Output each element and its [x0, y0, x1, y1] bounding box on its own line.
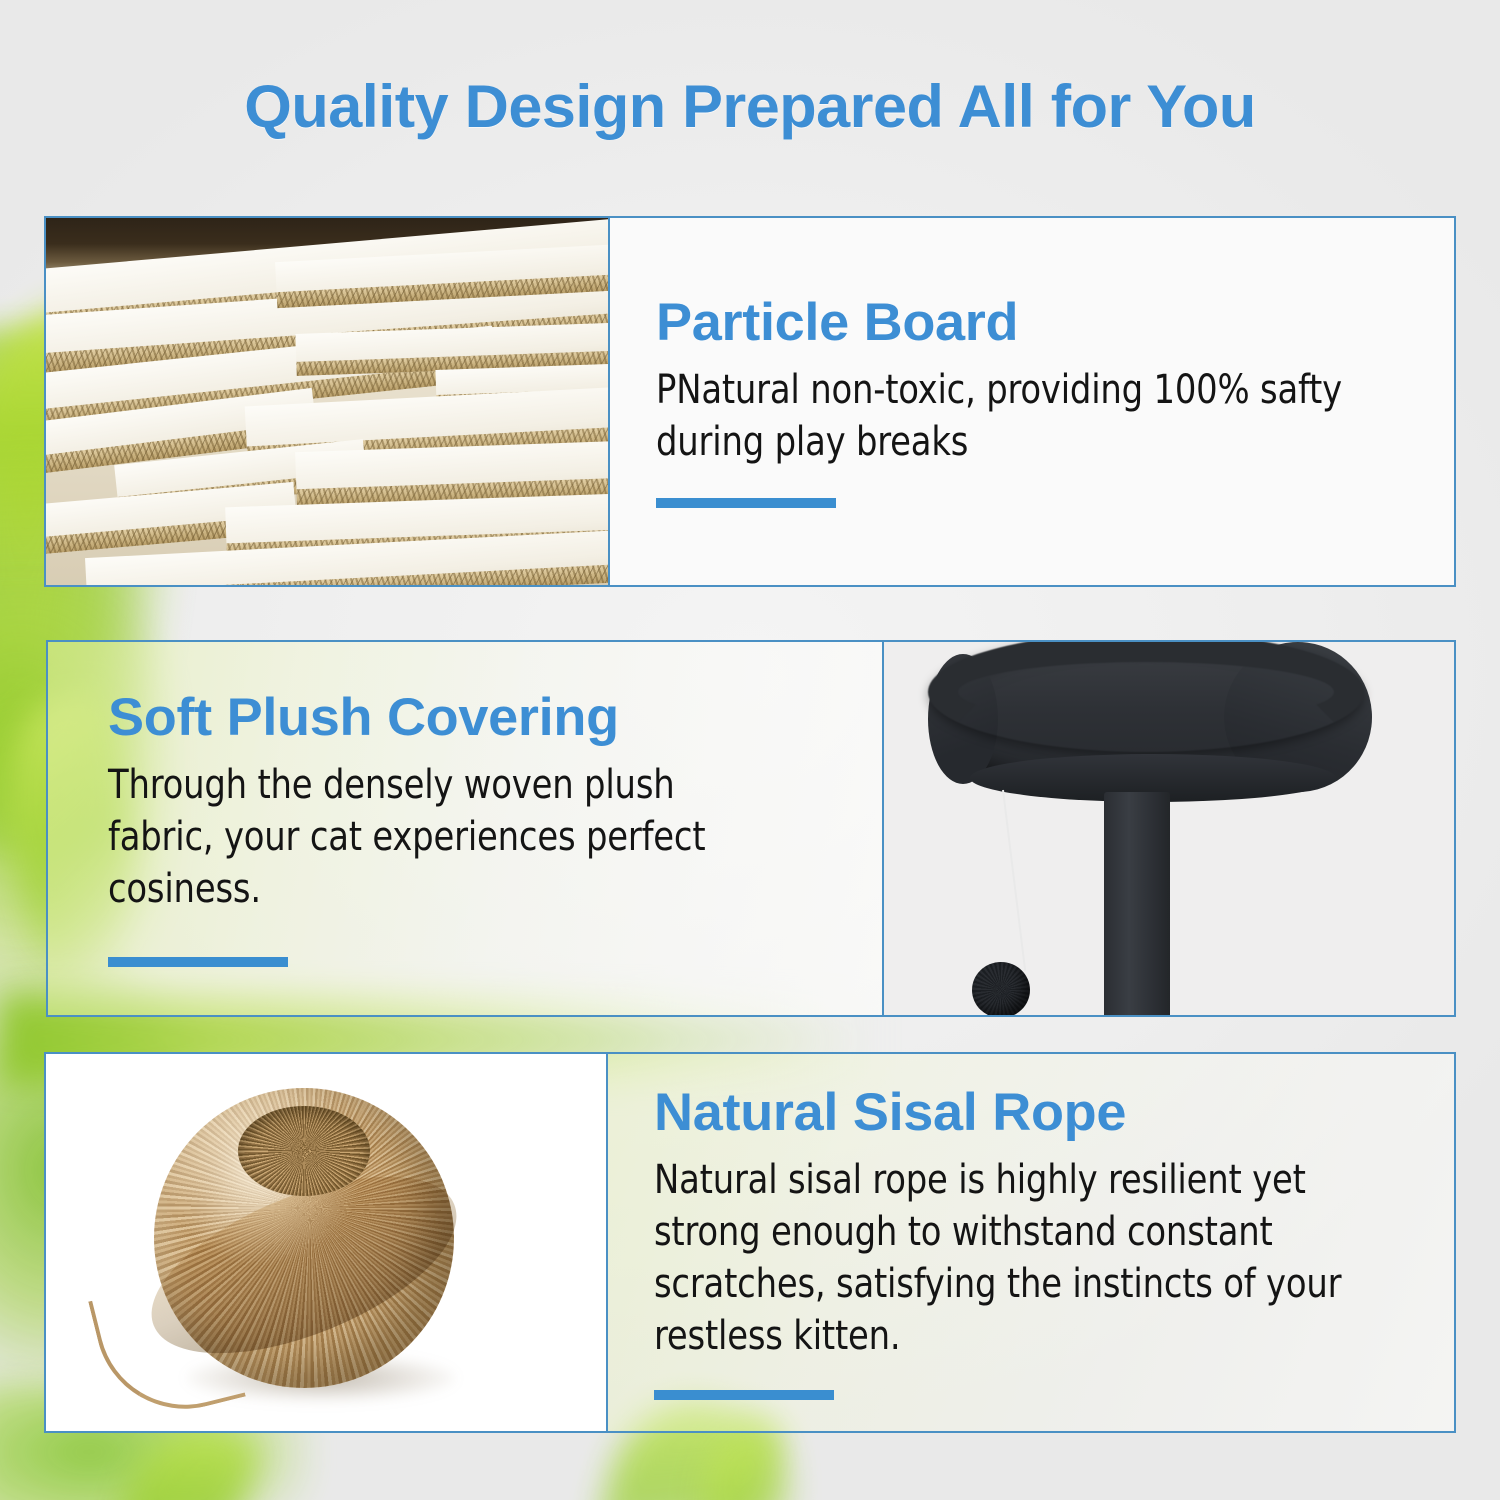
- card-heading: Soft Plush Covering: [108, 690, 853, 746]
- accent-bar: [654, 1390, 834, 1400]
- feature-card-natural-sisal-rope: Natural Sisal Rope Natural sisal rope is…: [44, 1052, 1456, 1433]
- card-body-text: PNatural non-toxic, providing 100% safty…: [656, 364, 1365, 468]
- accent-bar: [656, 498, 836, 508]
- page-title: Quality Design Prepared All for You: [0, 72, 1500, 141]
- accent-bar: [108, 957, 288, 967]
- card-text-panel: Soft Plush Covering Through the densely …: [48, 642, 884, 1015]
- cat-tree-plush-platform-image: [884, 642, 1454, 1015]
- sisal-rope-ball-image: [46, 1054, 608, 1431]
- feature-card-soft-plush-covering: Soft Plush Covering Through the densely …: [46, 640, 1456, 1017]
- card-text-panel: Particle Board PNatural non-toxic, provi…: [610, 218, 1454, 585]
- card-text-panel: Natural Sisal Rope Natural sisal rope is…: [608, 1054, 1454, 1431]
- pom-pom-toy: [972, 962, 1030, 1015]
- card-heading: Particle Board: [656, 295, 1425, 351]
- card-body-text: Natural sisal rope is highly resilient y…: [654, 1154, 1365, 1362]
- card-body-text: Through the densely woven plush fabric, …: [108, 759, 766, 915]
- particle-board-stack-image: [46, 218, 610, 585]
- feature-card-particle-board: Particle Board PNatural non-toxic, provi…: [44, 216, 1456, 587]
- card-heading: Natural Sisal Rope: [654, 1085, 1425, 1141]
